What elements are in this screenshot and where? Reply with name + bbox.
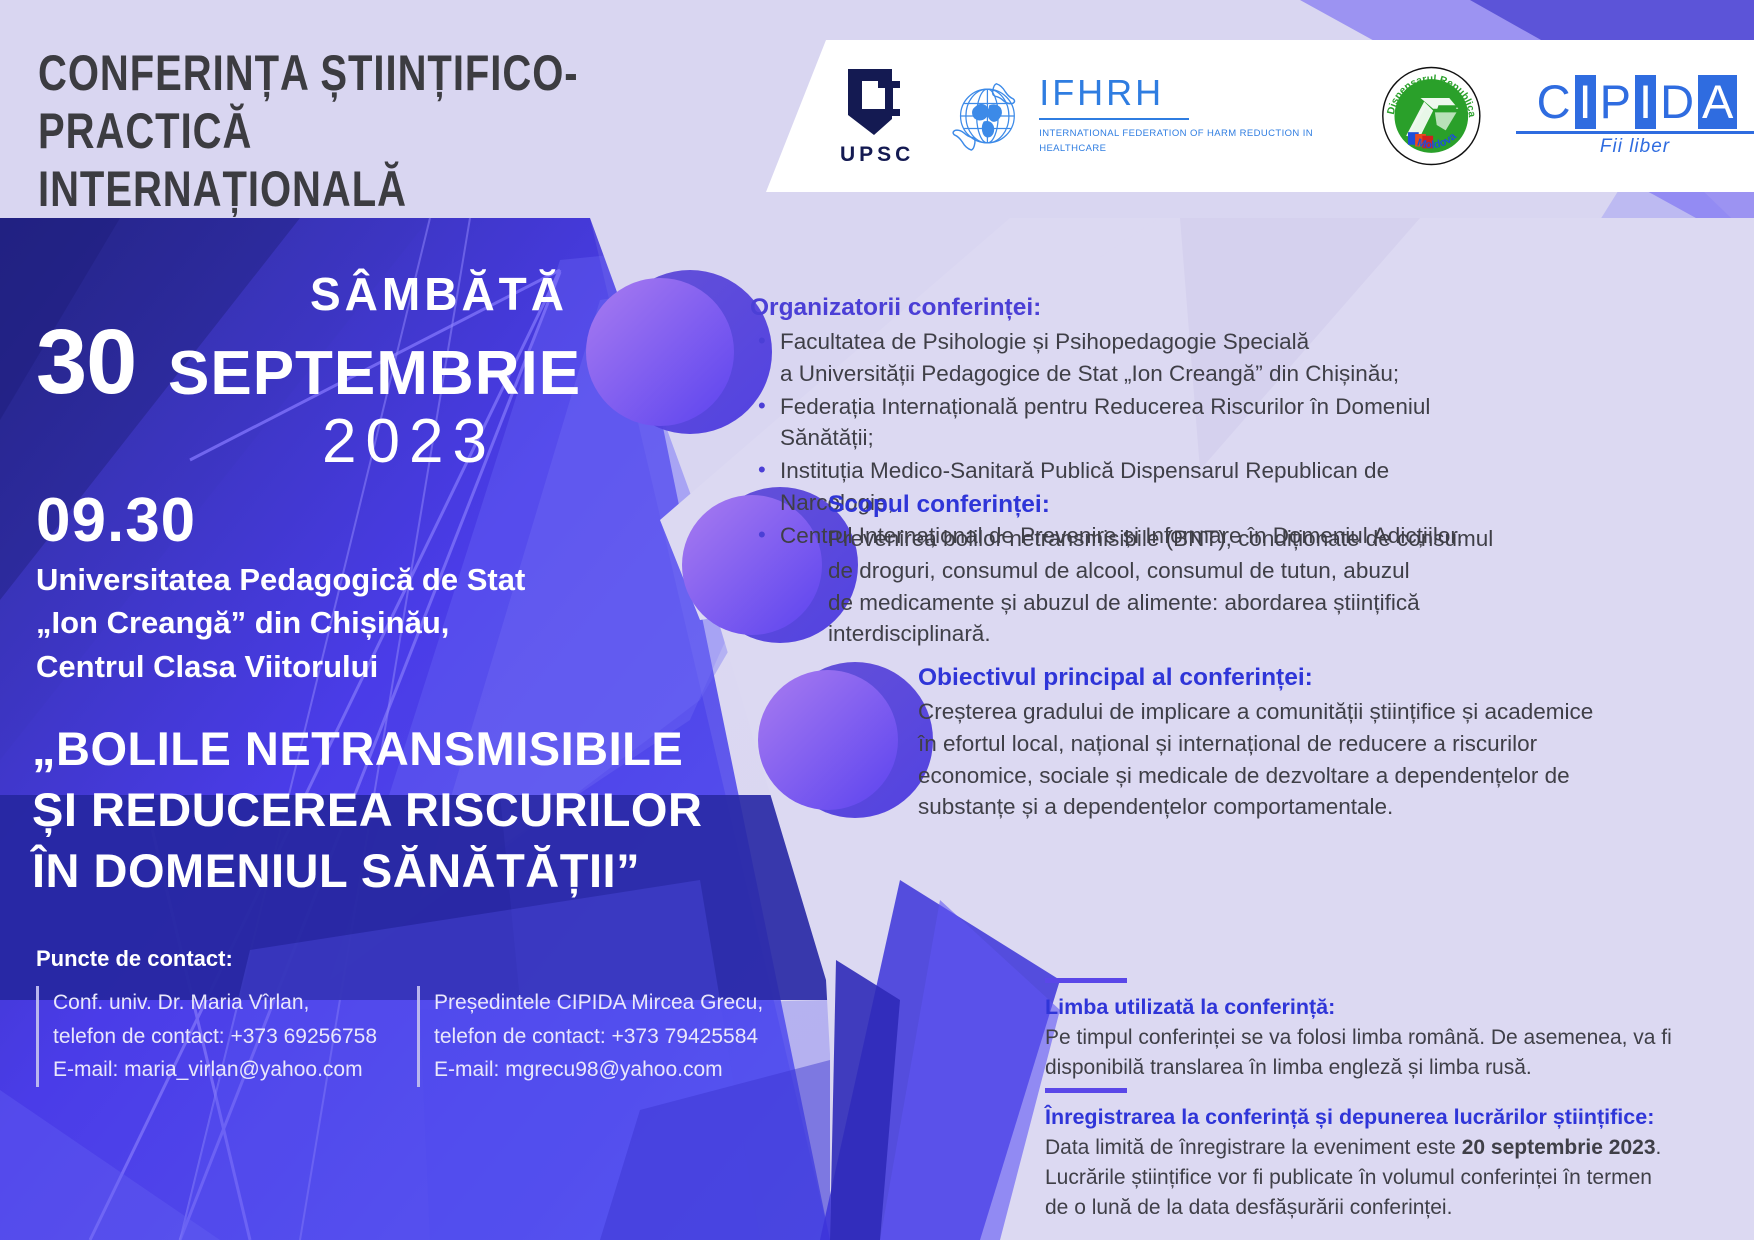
event-time: 09.30 xyxy=(36,490,196,552)
registration-deadline: 20 septembrie 2023 xyxy=(1462,1136,1656,1159)
contact-person: Conf. univ. Dr. Maria Vîrlan, telefon de… xyxy=(36,986,377,1087)
ifhrh-divider xyxy=(1039,118,1189,120)
cipida-letter: I xyxy=(1575,75,1596,129)
upsc-logo: UPSC xyxy=(840,65,914,167)
contact-person: Președintele CIPIDA Mircea Grecu, telefo… xyxy=(417,986,763,1087)
objective-heading: Obiectivul principal al conferinței: xyxy=(918,663,1598,694)
cipida-divider xyxy=(1516,131,1754,134)
language-text: Pe timpul conferinței se va folosi limba… xyxy=(1045,1023,1725,1083)
event-day-number: 30 xyxy=(36,316,136,408)
event-day-name: SÂMBĂTĂ xyxy=(310,267,568,321)
dispensar-narcologic-logo: Dispensarul Republican narcologic Moldov… xyxy=(1381,60,1482,172)
conference-theme: „BOLILE NETRANSMISIBILE ȘI REDUCEREA RIS… xyxy=(32,718,822,901)
logo-panel: UPSC IFHRH xyxy=(766,40,1754,192)
language-section: Limba utilizată la conferință: Pe timpul… xyxy=(1045,978,1725,1083)
objective-text: Creșterea gradului de implicare a comuni… xyxy=(918,696,1598,824)
registration-heading: Înregistrarea la conferință și depunerea… xyxy=(1045,1104,1735,1131)
registration-text: Data limită de înregistrare la eveniment… xyxy=(1045,1133,1735,1222)
scope-section: Scopul conferinței: Prevenirea bolilor n… xyxy=(828,490,1528,650)
event-year: 2023 xyxy=(322,411,496,473)
organizers-heading: Organizatorii conferinței: xyxy=(750,293,1490,324)
organizer-item: Federația Internațională pentru Reducere… xyxy=(750,391,1490,455)
contacts-list: Conf. univ. Dr. Maria Vîrlan, telefon de… xyxy=(36,986,763,1087)
ifhrh-logo: IFHRH INTERNATIONAL FEDERATION OF HARM R… xyxy=(948,70,1347,162)
section-rule xyxy=(1045,978,1127,983)
contacts-heading: Puncte de contact: xyxy=(36,946,233,972)
event-details-panel: SÂMBĂTĂ 30 SEPTEMBRIE 2023 09.30 Univers… xyxy=(0,218,830,1240)
information-panel: Organizatorii conferinței: Facultatea de… xyxy=(760,218,1754,1240)
ifhrh-subtitle: INTERNATIONAL FEDERATION OF HARM REDUCTI… xyxy=(1039,127,1347,156)
organizer-item: Facultatea de Psihologie și Psihopedagog… xyxy=(750,326,1490,390)
event-month: SEPTEMBRIE xyxy=(168,343,581,405)
objective-section: Obiectivul principal al conferinței: Cre… xyxy=(918,663,1598,823)
cipida-logo: C I P I D A Fii liber xyxy=(1516,75,1754,158)
scope-text: Prevenirea bolilor netransmisibile (BNT)… xyxy=(828,523,1528,651)
registration-section: Înregistrarea la conferință și depunerea… xyxy=(1045,1088,1735,1222)
scope-heading: Scopul conferinței: xyxy=(828,490,1528,521)
cipida-tagline: Fii liber xyxy=(1600,136,1670,158)
page-title: CONFERINȚA ȘTIINȚIFICO-PRACTICĂ INTERNAȚ… xyxy=(38,44,614,218)
ifhrh-name: IFHRH xyxy=(1039,75,1347,111)
cipida-letter: I xyxy=(1635,75,1656,129)
upsc-label: UPSC xyxy=(840,143,914,167)
conference-poster: CONFERINȚA ȘTIINȚIFICO-PRACTICĂ INTERNAȚ… xyxy=(0,0,1754,1240)
event-venue: Universitatea Pedagogică de Stat „Ion Cr… xyxy=(36,558,656,688)
language-heading: Limba utilizată la conferință: xyxy=(1045,994,1725,1021)
cipida-letter: D xyxy=(1656,75,1698,129)
registration-text-before: Data limită de înregistrare la eveniment… xyxy=(1045,1136,1462,1159)
upsc-shield-icon xyxy=(840,65,914,139)
globe-hands-icon xyxy=(948,70,1027,162)
section-rule xyxy=(1045,1088,1127,1093)
cipida-letter: C xyxy=(1533,75,1575,129)
cipida-letter: P xyxy=(1596,75,1635,129)
cipida-letter: A xyxy=(1698,75,1737,129)
